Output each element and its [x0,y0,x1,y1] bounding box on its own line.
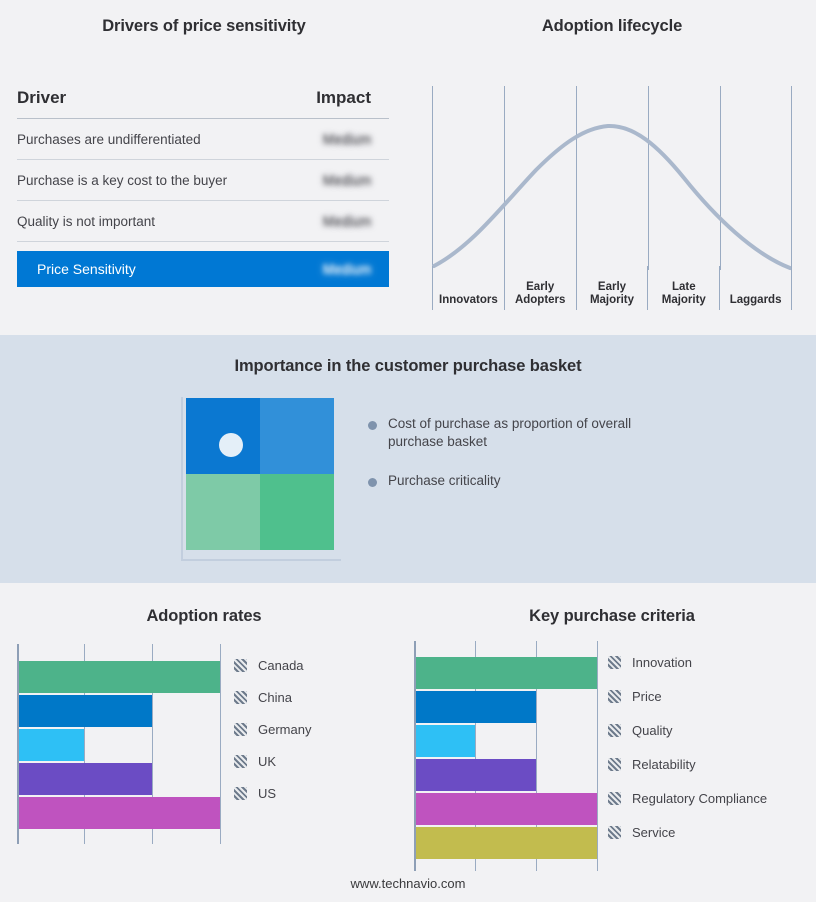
bullet-icon [368,421,377,430]
drivers-panel: Drivers of price sensitivity Driver Impa… [0,0,408,335]
drivers-table: Driver Impact Purchases are undifferenti… [17,88,389,287]
adoption-rates-panel: Adoption rates Canada China Germany UK [0,583,408,902]
legend-label: Purchase criticality [388,472,501,490]
table-row: Quality is not important Medium [17,201,389,242]
bar-uk [19,763,152,795]
driver-label: Purchase is a key cost to the buyer [17,173,227,188]
purchase-basket-panel: Importance in the customer purchase bask… [0,335,816,583]
legend-label: China [258,690,292,705]
bar-innovation [416,657,597,689]
list-item: Cost of purchase as proportion of overal… [368,415,668,451]
list-item: UK [234,745,311,777]
legend-swatch-icon [234,723,247,736]
drivers-table-header: Driver Impact [17,88,389,119]
drivers-panel-title: Drivers of price sensitivity [0,17,408,36]
legend-label: Price [632,689,662,704]
summary-label: Price Sensitivity [37,261,136,277]
legend-label: Regulatory Compliance [632,791,767,806]
lifecycle-stage-labels: Innovators Early Adopters Early Majority… [432,266,792,310]
position-dot-marker [219,433,243,457]
adoption-rates-chart [17,644,222,844]
legend-swatch-icon [608,826,621,839]
adoption-rates-title: Adoption rates [0,607,408,626]
column-header-impact: Impact [301,88,389,108]
bar-price [416,691,536,723]
bar-germany [19,729,84,761]
quadrant-bottom-left [186,474,260,550]
bar-canada [19,661,220,693]
legend-swatch-icon [234,659,247,672]
bar-quality [416,725,475,757]
legend-label: UK [258,754,276,769]
list-item: Price [608,679,767,713]
purchase-basket-legend: Cost of purchase as proportion of overal… [368,415,668,511]
legend-swatch-icon [234,755,247,768]
quadrant-grid [186,398,334,550]
gridline-3 [220,644,221,844]
gridline-3 [597,641,598,871]
table-row: Purchase is a key cost to the buyer Medi… [17,160,389,201]
legend-label: Innovation [632,655,692,670]
legend-swatch-icon [608,656,621,669]
table-row: Purchases are undifferentiated Medium [17,119,389,160]
impact-value: Medium [301,132,389,147]
bullet-icon [368,478,377,487]
list-item: Innovation [608,645,767,679]
quadrant-bottom-right [260,474,334,550]
bar-service [416,827,597,859]
lifecycle-bell-curve [434,126,790,268]
legend-swatch-icon [234,787,247,800]
lifecycle-panel-title: Adoption lifecycle [408,17,816,36]
column-header-driver: Driver [17,88,66,108]
list-item: Service [608,815,767,849]
lifecycle-stage-early-adopters: Early Adopters [504,266,576,310]
legend-swatch-icon [234,691,247,704]
list-item: Relatability [608,747,767,781]
lifecycle-stage-late-majority: Late Majority [647,266,719,310]
adoption-rates-legend: Canada China Germany UK US [234,649,311,809]
lifecycle-chart: Innovators Early Adopters Early Majority… [432,78,792,310]
list-item: Quality [608,713,767,747]
legend-label: Canada [258,658,304,673]
legend-swatch-icon [608,758,621,771]
legend-label: Relatability [632,757,696,772]
legend-label: Germany [258,722,311,737]
quadrant-top-right [260,398,334,474]
key-purchase-criteria-legend: Innovation Price Quality Relatability Re… [608,645,767,849]
legend-label: Cost of purchase as proportion of overal… [388,415,650,451]
list-item: Regulatory Compliance [608,781,767,815]
key-purchase-criteria-panel: Key purchase criteria Innovation Price Q… [408,583,816,902]
list-item: US [234,777,311,809]
legend-swatch-icon [608,724,621,737]
price-sensitivity-summary-row: Price Sensitivity Medium [17,251,389,287]
lifecycle-stage-early-majority: Early Majority [576,266,648,310]
impact-value: Medium [301,173,389,188]
legend-swatch-icon [608,690,621,703]
legend-label: Quality [632,723,672,738]
lifecycle-stage-laggards: Laggards [719,266,792,310]
lifecycle-panel: Adoption lifecycle Innovators Early Adop… [408,0,816,335]
driver-label: Purchases are undifferentiated [17,132,201,147]
legend-swatch-icon [608,792,621,805]
purchase-basket-matrix [181,397,341,561]
list-item: Germany [234,713,311,745]
list-item: Canada [234,649,311,681]
bar-china [19,695,152,727]
purchase-basket-panel-title: Importance in the customer purchase bask… [0,357,816,376]
list-item: Purchase criticality [368,472,668,490]
bar-regulatory-compliance [416,793,597,825]
bar-us [19,797,220,829]
summary-impact-value: Medium [301,262,389,277]
bar-relatability [416,759,536,791]
source-url: www.technavio.com [0,876,816,891]
impact-value: Medium [301,214,389,229]
lifecycle-gridlines [433,86,792,270]
legend-label: US [258,786,276,801]
lifecycle-stage-innovators: Innovators [432,266,504,310]
key-purchase-criteria-title: Key purchase criteria [408,607,816,626]
list-item: China [234,681,311,713]
driver-label: Quality is not important [17,214,155,229]
key-purchase-criteria-chart [414,641,599,871]
legend-label: Service [632,825,675,840]
